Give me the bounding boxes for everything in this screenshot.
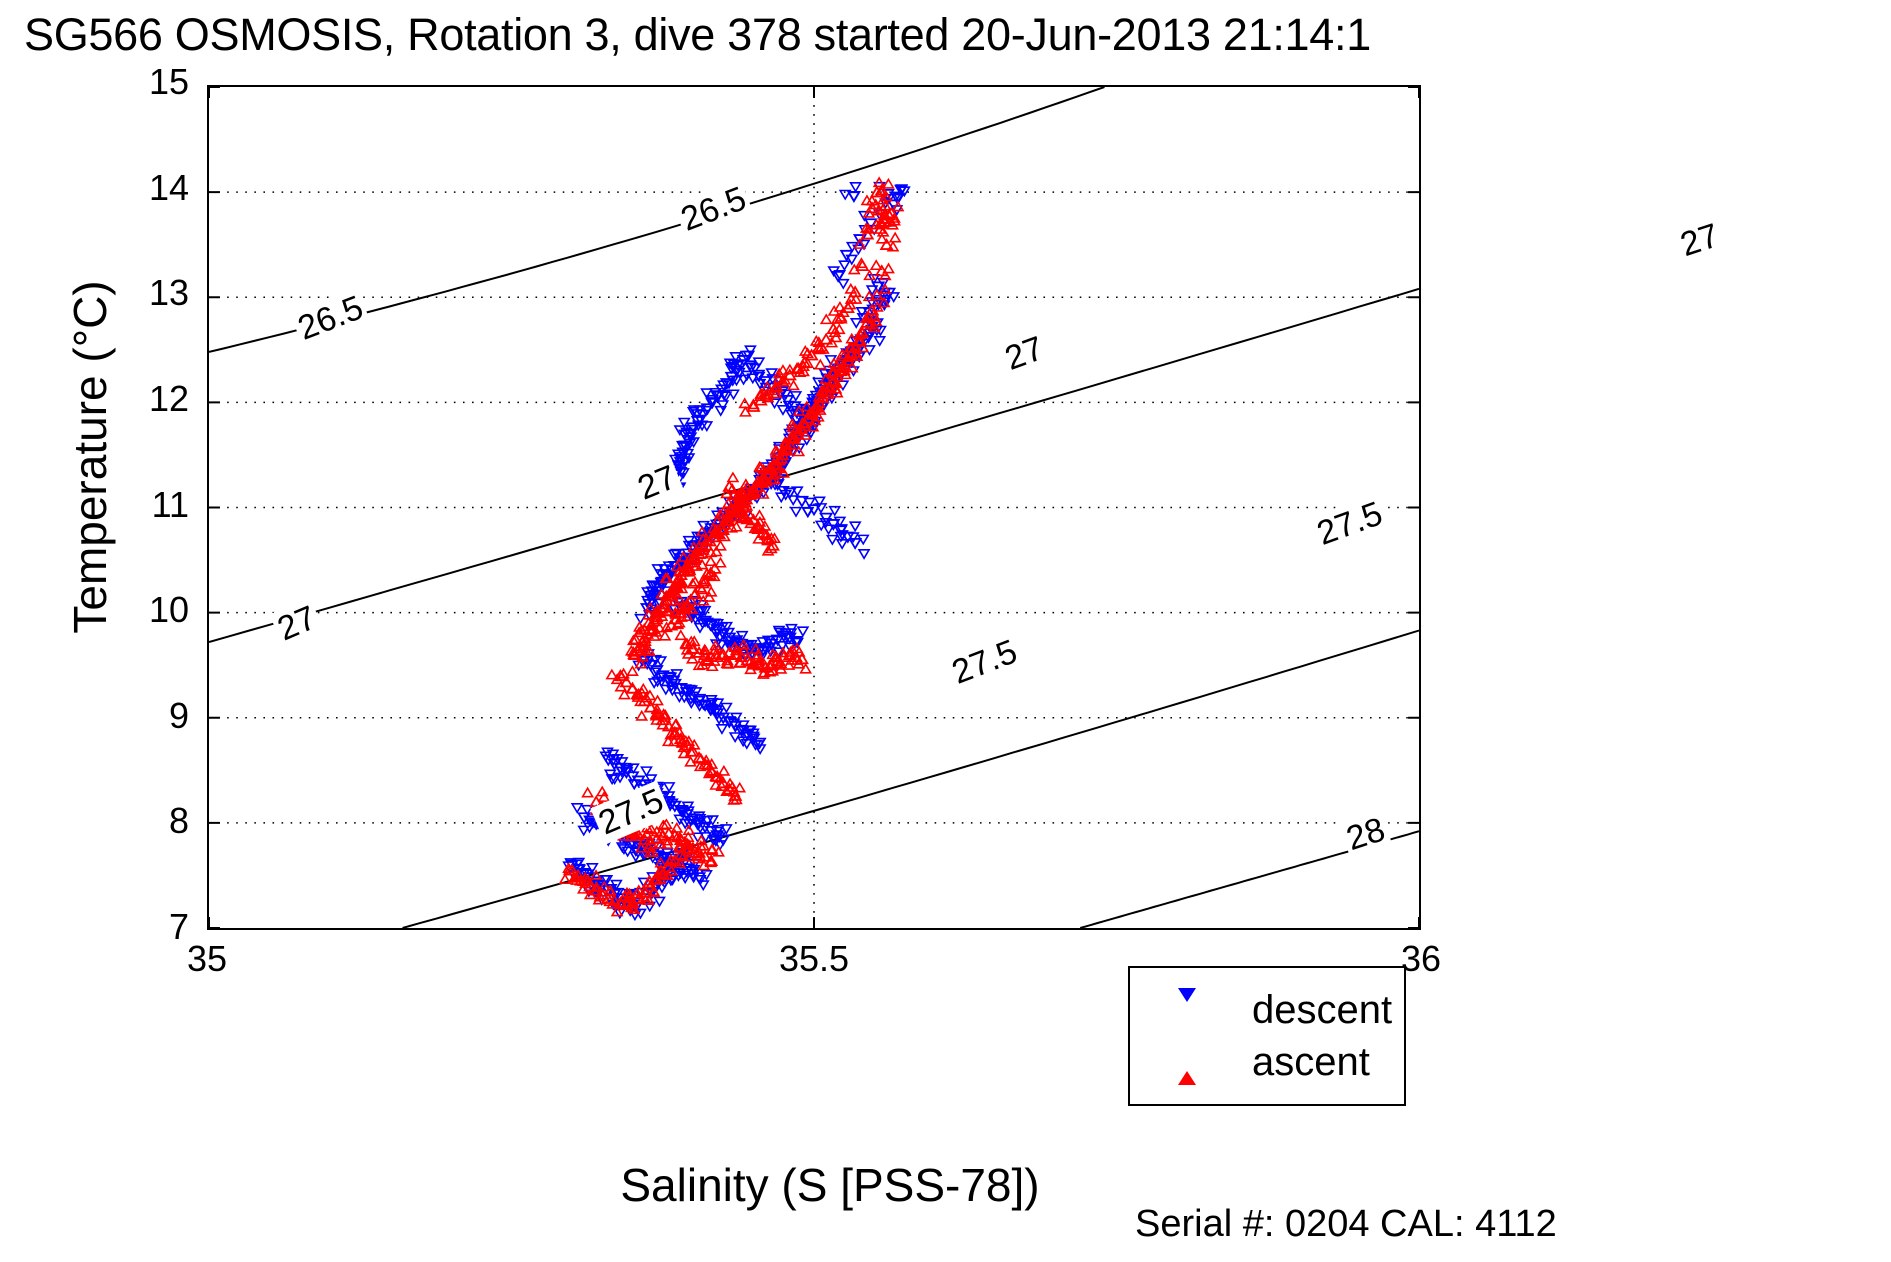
chart-canvas bbox=[209, 87, 1419, 928]
legend-label-descent: descent bbox=[1252, 988, 1392, 1033]
serial-cal-annotation: Serial #: 0204 CAL: 4112 bbox=[1135, 1203, 1557, 1246]
y-tick-label: 9 bbox=[89, 695, 189, 737]
legend-item-descent[interactable]: descent bbox=[1130, 992, 1404, 1038]
legend-item-ascent[interactable]: ascent bbox=[1130, 1044, 1404, 1090]
x-tick-label: 35 bbox=[147, 938, 267, 980]
y-tick-label: 15 bbox=[89, 61, 189, 103]
plot-area[interactable] bbox=[207, 85, 1421, 930]
legend-label-ascent: ascent bbox=[1252, 1040, 1370, 1085]
x-axis-label: Salinity (S [PSS-78]) bbox=[430, 1158, 1230, 1212]
page-title: SG566 OSMOSIS, Rotation 3, dive 378 star… bbox=[24, 6, 1371, 64]
y-tick-label: 14 bbox=[89, 167, 189, 209]
legend[interactable]: descent ascent bbox=[1128, 966, 1406, 1106]
isopycnal-label: 27 bbox=[1673, 215, 1727, 266]
y-tick-label: 13 bbox=[89, 272, 189, 314]
triangle-up-icon bbox=[1178, 1054, 1200, 1076]
y-tick-label: 12 bbox=[89, 378, 189, 420]
y-tick-label: 11 bbox=[89, 484, 189, 526]
y-tick-label: 10 bbox=[89, 589, 189, 631]
x-tick-label: 35.5 bbox=[754, 938, 874, 980]
y-tick-label: 8 bbox=[89, 800, 189, 842]
triangle-down-icon bbox=[1178, 1002, 1200, 1024]
